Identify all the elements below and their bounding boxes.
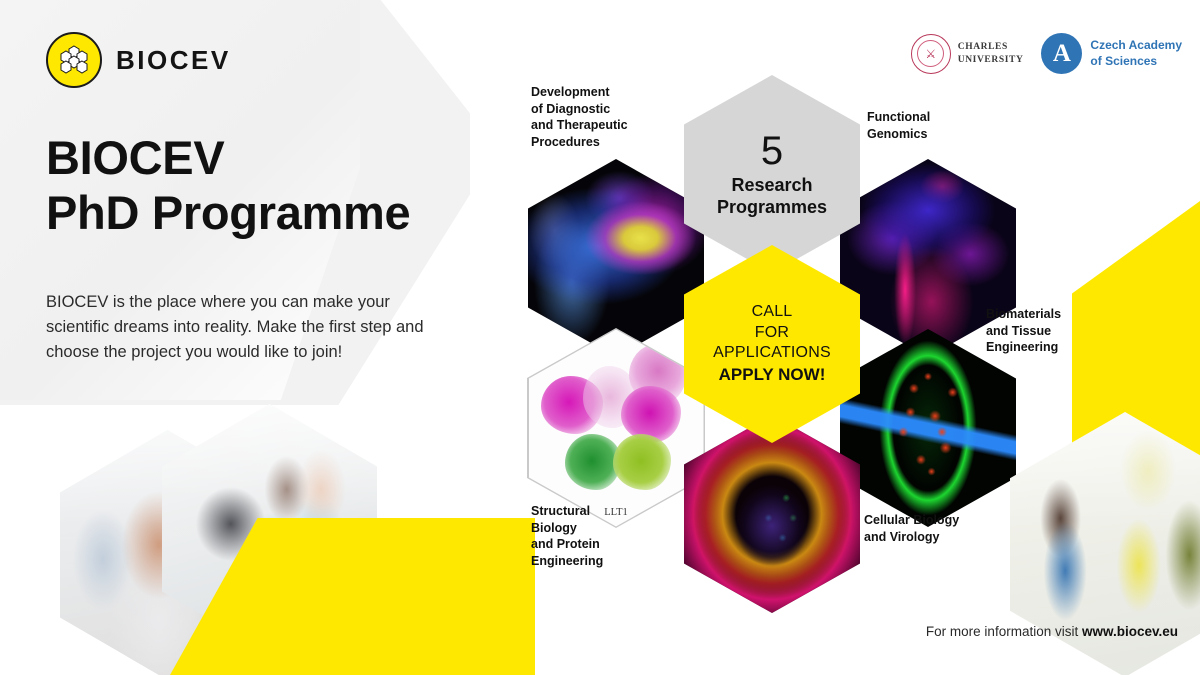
hero-description: BIOCEV is the place where you can make y… [46,290,446,365]
page-title-line1: BIOCEV [46,131,224,184]
label-line: Engineering [986,339,1136,356]
research-programmes-label-line2: Programmes [717,197,827,219]
protein-ribbon-green-right [613,434,671,490]
label-line: Biomaterials [986,306,1136,323]
cas-name-line1: Czech Academy [1090,38,1182,54]
programme-label-cellular-biology-virology: Cellular Biology and Virology [864,512,1024,545]
cu-name-line1: CHARLES [958,41,1024,53]
programme-label-structural-biology-protein-engineering: Structural Biology and Protein Engineeri… [531,503,681,570]
partner-charles-university[interactable]: ⚔ CHARLES UNIVERSITY [911,34,1024,74]
charles-university-seal-icon: ⚔ [911,34,951,74]
cas-name-line2: of Sciences [1090,54,1182,70]
protein-axis-label: Alde [546,340,554,353]
label-line: and Protein [531,536,681,553]
apply-now-button[interactable]: APPLY NOW! [719,365,826,385]
footer-url[interactable]: www.biocev.eu [1082,624,1178,639]
biocev-honeycomb-logo-icon [46,32,102,88]
page-title: BIOCEV PhD Programme [46,131,410,241]
label-line: and Therapeutic [531,117,681,134]
label-line: Procedures [531,134,681,151]
label-line: Genomics [867,126,1017,143]
programme-label-biomaterials-tissue-engineering: Biomaterials and Tissue Engineering [986,306,1136,356]
label-line: Functional [867,109,1017,126]
research-programmes-count: 5 [761,130,783,172]
cu-name-line2: UNIVERSITY [958,54,1024,66]
label-line: Engineering [531,553,681,570]
poster-canvas: BIOCEV BIOCEV PhD Programme BIOCEV is th… [0,0,1200,675]
footer-info[interactable]: For more information visit www.biocev.eu [926,624,1178,639]
cta-line2: FOR [713,323,831,343]
label-line: Development [531,84,681,101]
label-line: Cellular Biology [864,512,1024,529]
partner-czech-academy-of-sciences[interactable]: A Czech Academy of Sciences [1041,33,1182,74]
research-programmes-label: Research Programmes [717,175,827,219]
label-line: and Tissue [986,323,1136,340]
footer-text: For more information visit [926,624,1082,639]
page-title-line2: PhD Programme [46,186,410,239]
research-programmes-label-line1: Research [717,175,827,197]
label-line: Biology [531,520,681,537]
label-line: and Virology [864,529,1024,546]
programme-label-functional-genomics: Functional Genomics [867,109,1017,142]
label-line: of Diagnostic [531,101,681,118]
programme-label-development-diagnostic-therapeutic: Development of Diagnostic and Therapeuti… [531,84,681,151]
czech-academy-a-mark-icon: A [1041,33,1082,74]
cta-line1: CALL [713,302,831,322]
biocev-logo[interactable]: BIOCEV [46,32,231,88]
protein-ribbon-magenta-right [621,386,681,442]
cta-text: CALL FOR APPLICATIONS [713,302,831,363]
cta-line3: APPLICATIONS [713,343,831,363]
charles-university-label: CHARLES UNIVERSITY [958,41,1024,65]
label-line: Structural [531,503,681,520]
partner-logos: ⚔ CHARLES UNIVERSITY A Czech Academy of … [911,33,1182,74]
biocev-logo-text: BIOCEV [116,45,231,76]
czech-academy-label: Czech Academy of Sciences [1090,38,1182,69]
